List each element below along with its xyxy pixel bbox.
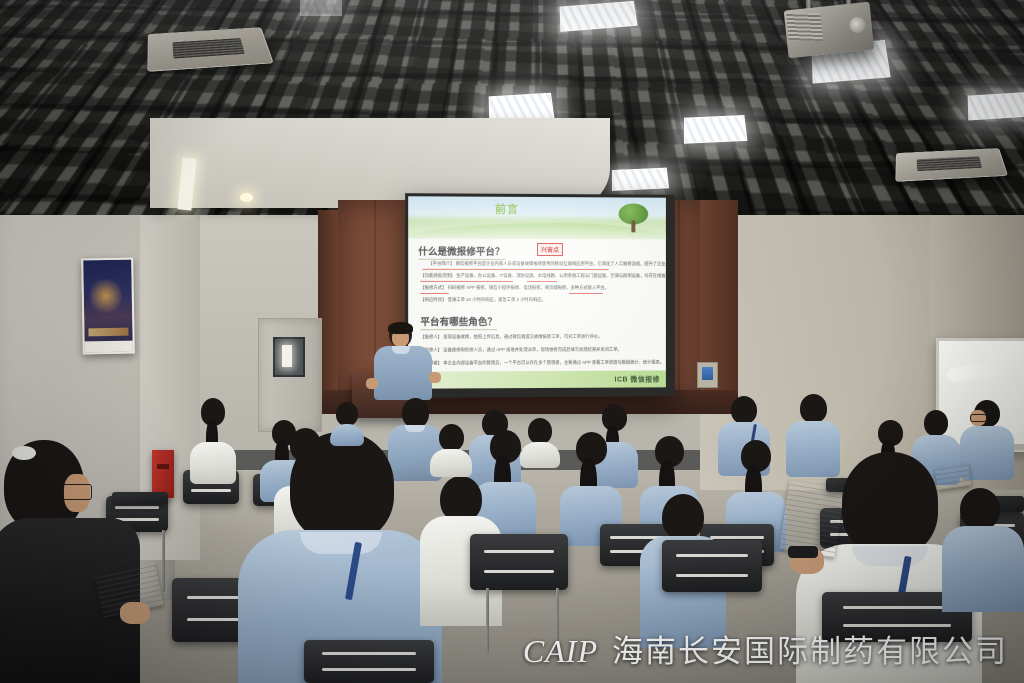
- ceiling-light-panel: [300, 0, 342, 16]
- hand: [120, 602, 150, 624]
- presenter-torso: [374, 346, 432, 400]
- slide-body-line: 【报修方式】 扫码报修 APP 报修、微信小程序报修、电话报修、网页端报修，多种…: [420, 285, 666, 291]
- watermark: CAIP 海南长安国际制药有限公司: [523, 626, 1008, 671]
- presenter-hand: [366, 378, 378, 389]
- attendee: [560, 432, 622, 536]
- attendee-foreground-left: [0, 440, 140, 683]
- presenter: [372, 322, 434, 402]
- watermark-brand: CAIP: [523, 633, 598, 670]
- slide-footer-band: ICB 微信报修: [408, 370, 666, 388]
- framed-poster: [81, 258, 135, 355]
- slide-footer-logo: ICB 微信报修: [615, 374, 660, 384]
- slide-banner-title: 前言: [495, 201, 519, 217]
- slide-body-line: 【响应时效】 普通工单 24 小时内响应，紧急工单 2 小时内响应。: [420, 297, 666, 303]
- soffit-light-slot: [177, 157, 196, 210]
- chair-leg: [162, 530, 165, 592]
- attendee: [520, 418, 560, 466]
- glasses: [970, 414, 987, 422]
- slide-role-line: 【报修人】 发现设备故障，拍照上传信息，通过微信端提交故障报修工单，可对工单进行…: [420, 334, 666, 341]
- photo-scene: 前言 什么是微报修平台？ 兴奋点 【平台简介】 微信报修平台是企业内部人员或设备…: [0, 0, 1024, 683]
- fire-extinguisher-cabinet: [152, 450, 174, 498]
- slide-underline-red: [420, 281, 513, 282]
- wall-sign: [697, 362, 718, 388]
- chair-leg: [486, 588, 489, 652]
- slide-heading-1: 什么是微报修平台？: [418, 244, 504, 260]
- attendee: [942, 488, 1024, 608]
- watermark-company: 海南长安国际制药有限公司: [612, 626, 1008, 671]
- door: [258, 318, 322, 432]
- slide-underline-red: [422, 269, 608, 270]
- attendee: [430, 424, 472, 474]
- glasses: [62, 484, 92, 500]
- slide-callout-badge: 兴奋点: [537, 243, 563, 256]
- slide-underline-red: [569, 293, 603, 294]
- attendee: [330, 402, 364, 442]
- slide-underline-red: [420, 293, 448, 294]
- door-vision-panel: [273, 337, 305, 377]
- chair: [662, 540, 762, 592]
- ceiling-downlight: [240, 193, 253, 202]
- ceiling-projector: [784, 2, 875, 59]
- presenter-hair: [388, 322, 413, 334]
- slide-role-line: 【检修人】 设备维修和检修人员，通过 APP 接收并处理派单，现场维修完成后填写…: [420, 347, 666, 354]
- slide-banner: 前言: [408, 196, 666, 239]
- chair: [470, 534, 568, 590]
- presenter-collar: [392, 346, 410, 354]
- slide-body-line: 【平台简介】 微信报修平台是企业内部人员或设备故障报修使用的移动互联网应用平台，…: [428, 261, 665, 268]
- attendee: [190, 398, 236, 478]
- projected-slide: 前言 什么是微报修平台？ 兴奋点 【平台简介】 微信报修平台是企业内部人员或设备…: [408, 196, 666, 388]
- collar: [852, 546, 928, 566]
- collar: [300, 532, 382, 554]
- slide-body-line: 【功能涵盖范围】 生产设备、办公设备、IT设备、消防设施、水电线路、公用系统工程…: [420, 273, 666, 279]
- ceiling-light-panel: [968, 92, 1024, 120]
- wristwatch: [788, 546, 818, 558]
- chair: [304, 640, 434, 683]
- ceiling-light-panel: [684, 115, 748, 144]
- slide-role-line: 【管理者】 本企业内部设备平台的管理员，一个平台可以存在多个管理者，主要通过 A…: [420, 360, 666, 367]
- slide-underline-red: [527, 281, 557, 282]
- presenter-hand: [429, 372, 441, 383]
- projection-screen: 前言 什么是微报修平台？ 兴奋点 【平台简介】 微信报修平台是企业内部人员或设备…: [405, 193, 675, 398]
- ceiling-light-panel: [612, 168, 669, 191]
- tree-graphic: [619, 203, 649, 233]
- collar: [405, 425, 425, 432]
- hair-tie: [12, 446, 36, 460]
